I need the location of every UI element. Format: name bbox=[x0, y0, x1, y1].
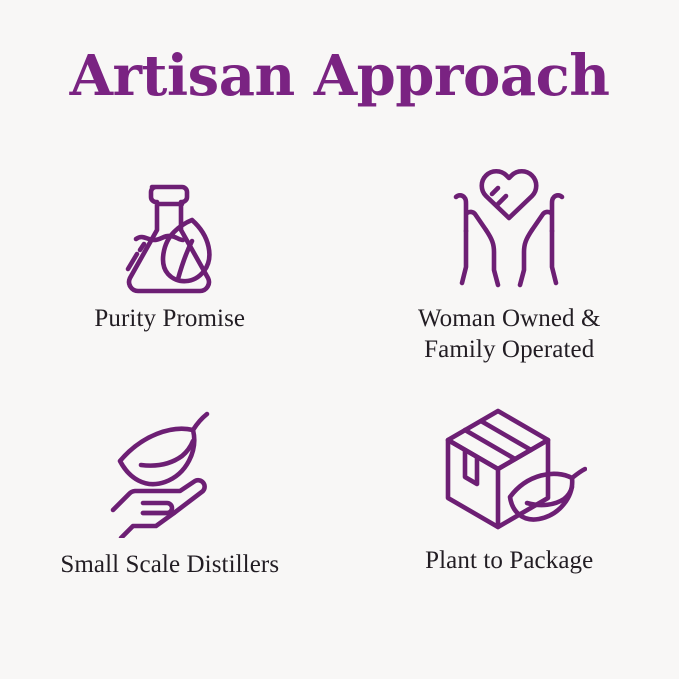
feature-label-woman-owned: Woman Owned & Family Operated bbox=[418, 304, 601, 365]
feature-label-small-scale-distillers: Small Scale Distillers bbox=[60, 550, 279, 581]
box-leaf-icon bbox=[432, 394, 587, 544]
flask-leaf-icon bbox=[100, 152, 240, 302]
feature-label-purity-promise: Purity Promise bbox=[94, 304, 245, 335]
feature-item-small-scale-distillers: Small Scale Distillers bbox=[0, 392, 340, 632]
hands-holding-heart-icon bbox=[434, 152, 584, 300]
feature-label-plant-to-package: Plant to Package bbox=[425, 546, 593, 577]
page-title: Artisan Approach bbox=[0, 46, 679, 108]
feature-item-purity-promise: Purity Promise bbox=[0, 152, 340, 392]
hand-holding-leaf-icon bbox=[95, 398, 245, 548]
artisan-approach-panel: Artisan Approach bbox=[0, 0, 679, 679]
feature-item-woman-owned: Woman Owned & Family Operated bbox=[340, 152, 679, 392]
feature-grid: Purity Promise bbox=[0, 152, 679, 652]
feature-item-plant-to-package: Plant to Package bbox=[340, 392, 679, 632]
